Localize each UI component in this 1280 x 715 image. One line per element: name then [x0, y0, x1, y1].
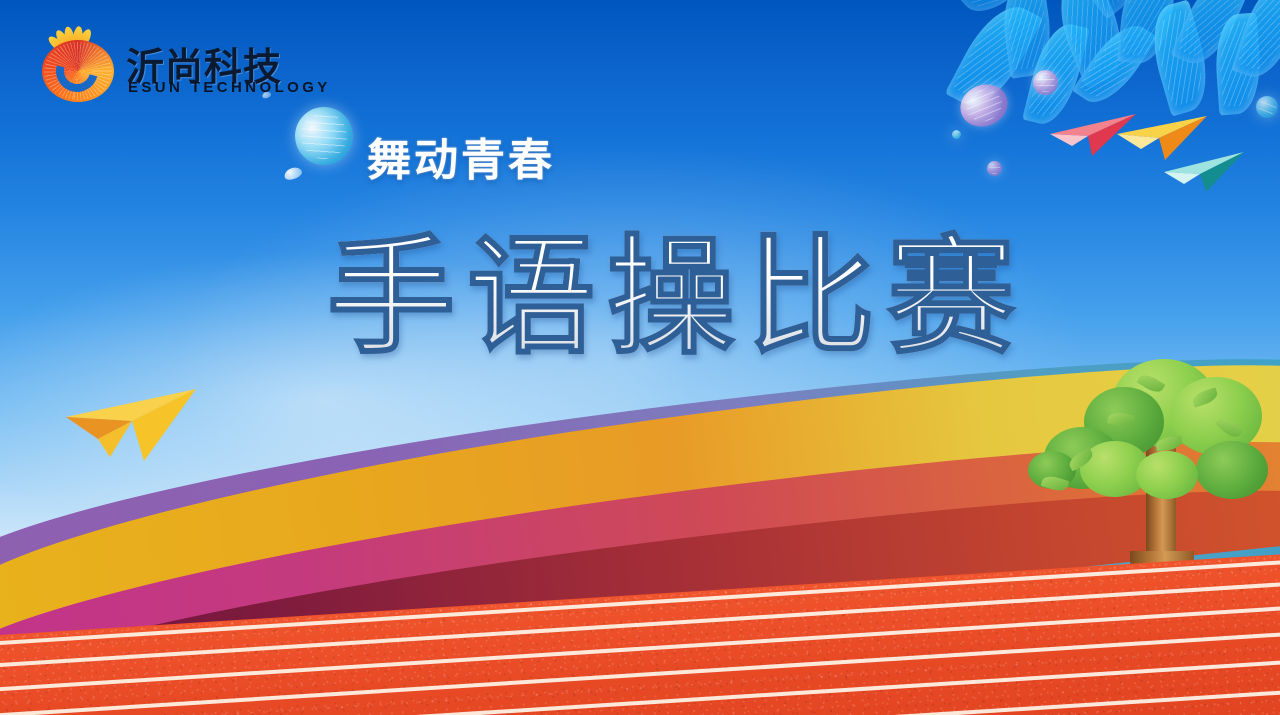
bubble-cyan-large: [287, 99, 360, 172]
track-lane-line: [0, 684, 1280, 715]
bubble-pink-small: [1033, 70, 1058, 95]
poster-title: 手语操比赛: [327, 224, 1027, 371]
bubble-cyan-tiny: [952, 130, 961, 139]
logo-company-name-en: ESUN TECHNOLOGY: [128, 79, 331, 96]
bubble-cyan-dot: [1256, 96, 1278, 118]
esun-sun-swirl-logo: [26, 22, 122, 104]
esun-logo[interactable]: 沂尚科技 ESUN TECHNOLOGY: [26, 22, 326, 104]
poster-subtitle: 舞动青春: [367, 124, 555, 188]
tree-crown: [1196, 441, 1268, 499]
poster-canvas: 沂尚科技 ESUN TECHNOLOGY 舞动青春 手语操比赛: [0, 0, 1280, 715]
paper-plane-teal: [1162, 148, 1248, 194]
paper-plane-yellow-large: [62, 383, 202, 465]
tree-crown: [1136, 451, 1198, 499]
bubble-violet-tiny: [987, 161, 1002, 176]
droplet-icon: [283, 165, 304, 181]
green-tree: [1020, 355, 1270, 585]
